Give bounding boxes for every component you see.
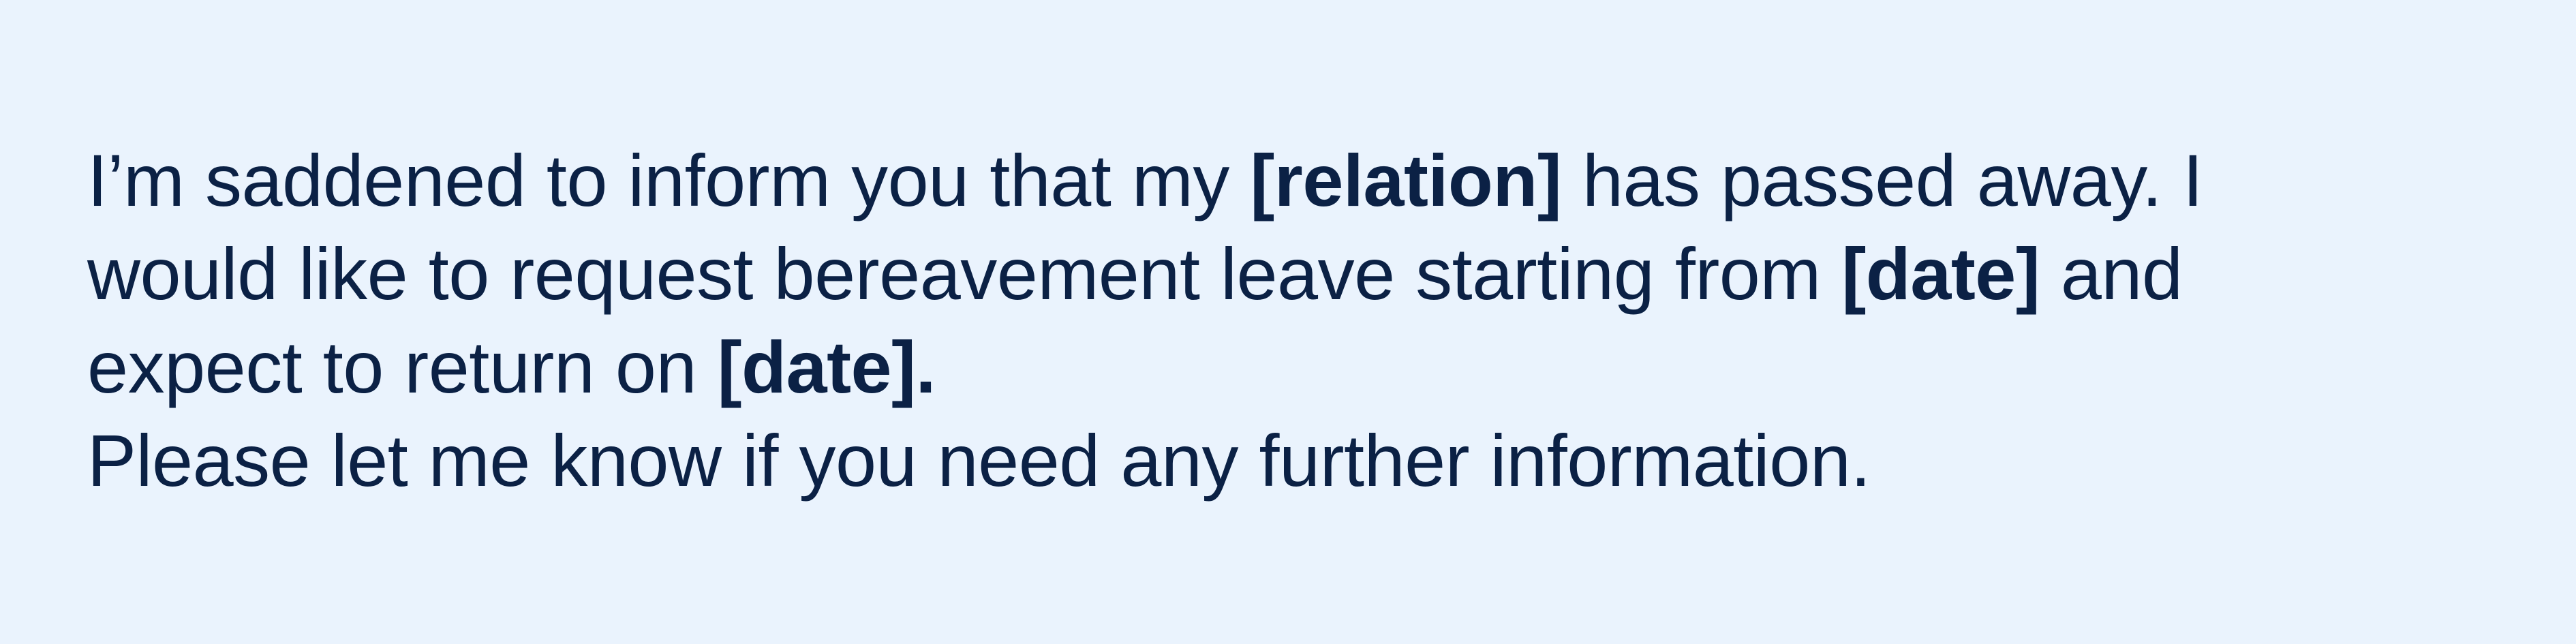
placeholder-relation[interactable]: [relation] <box>1250 139 1561 221</box>
message-body: I’m saddened to inform you that my [rela… <box>87 134 2404 507</box>
message-text-closing: Please let me know if you need any furth… <box>87 419 1871 502</box>
placeholder-return-date[interactable]: [date]. <box>718 326 936 408</box>
message-card: I’m saddened to inform you that my [rela… <box>0 0 2576 644</box>
message-text-intro: I’m saddened to inform you that my <box>87 139 1250 221</box>
placeholder-start-date[interactable]: [date] <box>1841 232 2040 315</box>
